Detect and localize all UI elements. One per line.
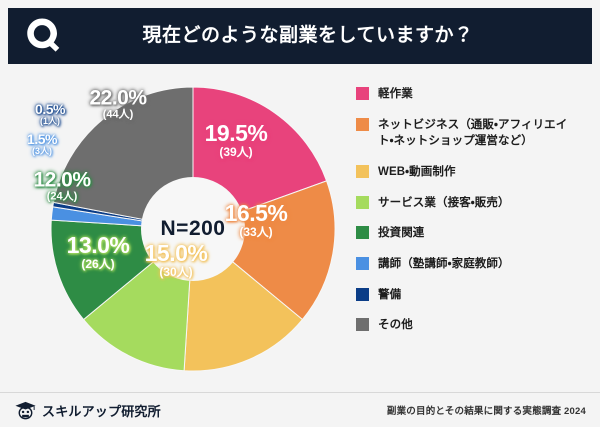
legend-color-swatch	[356, 196, 369, 209]
legend-color-swatch	[356, 288, 369, 301]
legend-item-label: 軽作業	[378, 86, 413, 103]
legend-item-label: WEB・動画制作	[378, 164, 456, 181]
footer-brand[interactable]: スキルアップ研究所	[14, 399, 387, 422]
legend-color-swatch	[356, 257, 369, 270]
legend-item-label: 警備	[378, 287, 401, 304]
legend-item-label: 投資関連	[378, 225, 424, 242]
legend-item-label: サービス業（接客・販売）	[378, 195, 510, 212]
donut-center-hole: N=200	[141, 177, 245, 281]
total-respondents-label: N=200	[161, 217, 226, 241]
legend-item[interactable]: ネットビジネス（通販・アフィリエイト・ネットショップ運営など）	[356, 117, 594, 150]
content-area: N=200 19.5% (39人) 16.5% (33人) 15.0% (30人…	[0, 72, 600, 390]
legend-color-swatch	[356, 118, 369, 131]
legend-item[interactable]: その他	[356, 317, 594, 334]
page-title: 現在どのような副業をしていますか？	[72, 26, 578, 47]
legend-item[interactable]: 軽作業	[356, 86, 594, 103]
footer-bar: スキルアップ研究所 副業の目的とその結果に関する実態調査 2024	[0, 392, 600, 427]
legend-item[interactable]: 講師（塾講師・家庭教師）	[356, 256, 594, 273]
question-mark-logo-icon	[22, 15, 64, 57]
header-bar: 現在どのような副業をしていますか？	[8, 8, 592, 64]
legend-color-swatch	[356, 87, 369, 100]
legend-item[interactable]: サービス業（接客・販売）	[356, 195, 594, 212]
brand-name: スキルアップ研究所	[42, 401, 161, 420]
legend-item-label: 講師（塾講師・家庭教師）	[378, 256, 510, 273]
infographic-page: 現在どのような副業をしていますか？ N=200 19.5% (39人) 16.5…	[0, 0, 600, 427]
legend-color-swatch	[356, 226, 369, 239]
legend: 軽作業ネットビジネス（通販・アフィリエイト・ネットショップ運営など）WEB・動画…	[356, 86, 594, 348]
legend-color-swatch	[356, 318, 369, 331]
graduation-cap-icon	[14, 399, 37, 422]
donut-chart: N=200	[48, 84, 338, 374]
legend-item[interactable]: 警備	[356, 287, 594, 304]
legend-item-label: ネットビジネス（通販・アフィリエイト・ネットショップ運営など）	[378, 117, 567, 150]
legend-item[interactable]: 投資関連	[356, 225, 594, 242]
legend-color-swatch	[356, 165, 369, 178]
survey-attribution: 副業の目的とその結果に関する実態調査 2024	[387, 403, 586, 417]
legend-item[interactable]: WEB・動画制作	[356, 164, 594, 181]
legend-item-label: その他	[378, 317, 413, 334]
